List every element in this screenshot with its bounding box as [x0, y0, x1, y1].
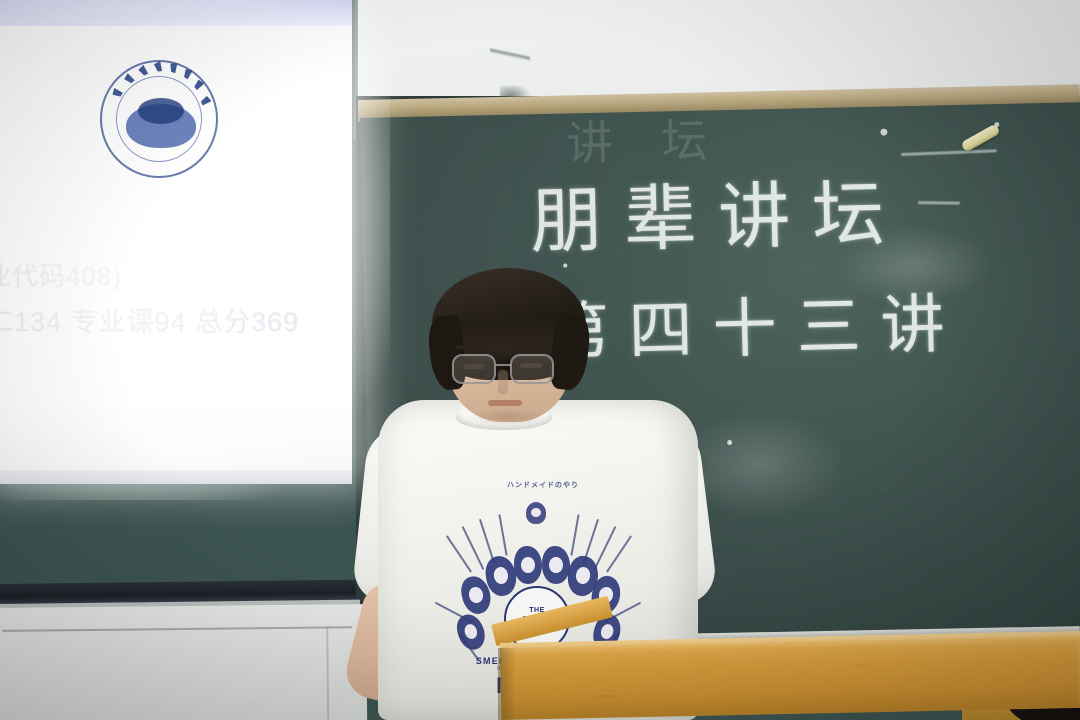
university-seal-emblem-highlight: [138, 98, 184, 124]
projection-screen-bottom-edge: [0, 470, 352, 484]
tshirt-graphic-bulb-icon: [526, 502, 546, 524]
wood-grain-texture: [500, 636, 1080, 720]
projection-screen-top-band: [0, 0, 352, 26]
wooden-lectern: [500, 636, 1080, 720]
cabinet-seam-vertical: [326, 627, 329, 720]
tshirt-graphic-top-text: ハンドメイドのやり: [488, 480, 598, 490]
chin-shadow: [470, 408, 546, 426]
mouth: [488, 400, 522, 406]
classroom-photo: 讲 坛 朋辈讲坛 第四十三讲 专业代码408) 学二134 专业课94 总分36…: [0, 0, 1080, 720]
glasses-lens-right: [510, 354, 554, 384]
slide-text-line-2: 学二134 专业课94 总分369: [0, 300, 299, 339]
speaker-hair-side-right: [548, 312, 593, 392]
glasses-bridge: [496, 364, 512, 366]
blackboard-title: 朋辈讲坛: [529, 154, 907, 267]
lectern-shadow: [498, 648, 516, 720]
podium-cabinet: [0, 604, 367, 720]
nose: [498, 370, 508, 394]
cabinet-seam: [2, 626, 352, 632]
glasses-lens-left: [452, 354, 496, 384]
slide-text-line-1: 专业代码408): [0, 256, 122, 293]
